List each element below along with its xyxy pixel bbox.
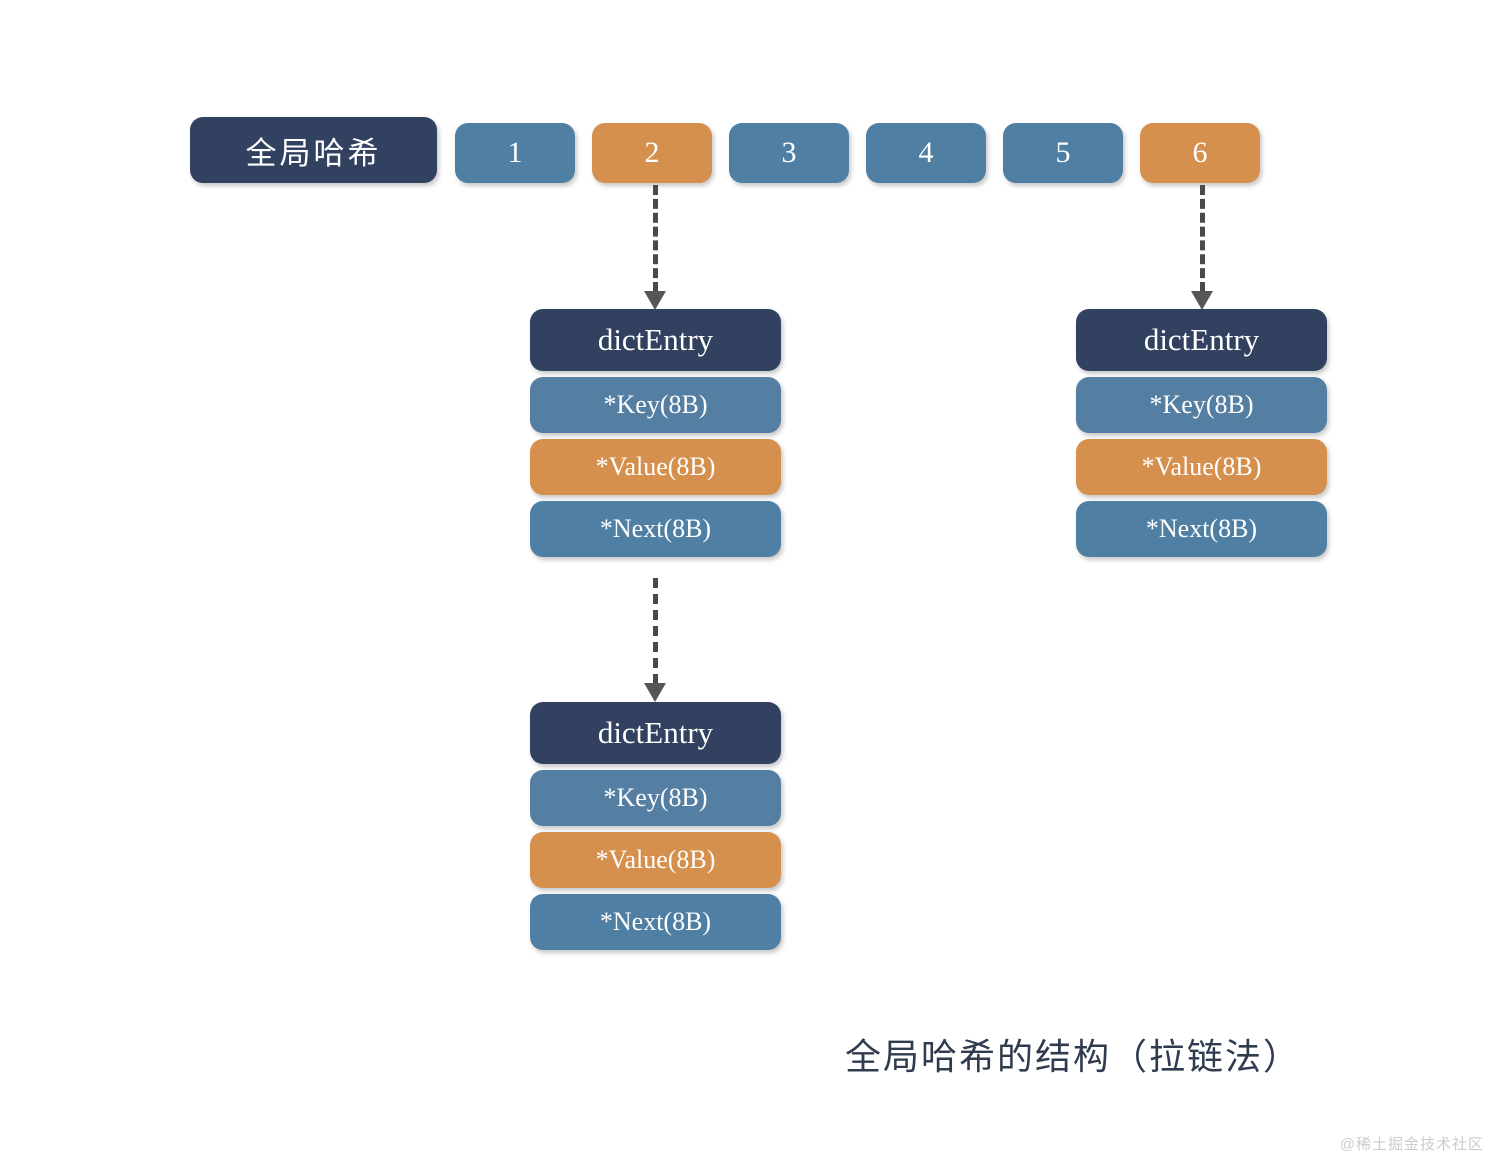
dict-entry-next-row[interactable]: *Next(8B)	[530, 894, 781, 950]
arrow-head-icon	[1191, 291, 1213, 310]
arrow-bucket2-to-entry1	[644, 185, 666, 310]
diagram-canvas: 全局哈希 1 2 3 4 5 6 dictEntry *Key(8B) *Val…	[0, 0, 1512, 1176]
bucket-cell-1[interactable]: 1	[455, 123, 575, 183]
dict-entry-block-2: dictEntry *Key(8B) *Value(8B) *Next(8B)	[1076, 309, 1327, 563]
dict-entry-value-row[interactable]: *Value(8B)	[530, 439, 781, 495]
dict-entry-next-row[interactable]: *Next(8B)	[1076, 501, 1327, 557]
bucket-cell-3[interactable]: 3	[729, 123, 849, 183]
dict-entry-value-row[interactable]: *Value(8B)	[1076, 439, 1327, 495]
dict-entry-key-row[interactable]: *Key(8B)	[1076, 377, 1327, 433]
dict-entry-header: dictEntry	[530, 702, 781, 764]
arrow-head-icon	[644, 291, 666, 310]
dict-entry-header: dictEntry	[530, 309, 781, 371]
arrow-bucket6-to-entry2	[1191, 185, 1213, 310]
arrow-shaft	[653, 185, 663, 292]
dict-entry-block-3: dictEntry *Key(8B) *Value(8B) *Next(8B)	[530, 702, 781, 956]
global-hash-label-box: 全局哈希	[190, 117, 437, 183]
dict-entry-value-row[interactable]: *Value(8B)	[530, 832, 781, 888]
bucket-cell-4[interactable]: 4	[866, 123, 986, 183]
bucket-cell-6[interactable]: 6	[1140, 123, 1260, 183]
arrow-shaft	[1200, 185, 1210, 292]
arrow-entry1-next-to-entry3	[644, 578, 666, 702]
watermark: @稀土掘金技术社区	[1340, 1133, 1484, 1154]
arrow-shaft	[653, 578, 663, 684]
dict-entry-block-1: dictEntry *Key(8B) *Value(8B) *Next(8B)	[530, 309, 781, 563]
dict-entry-next-row[interactable]: *Next(8B)	[530, 501, 781, 557]
dict-entry-header: dictEntry	[1076, 309, 1327, 371]
dict-entry-key-row[interactable]: *Key(8B)	[530, 770, 781, 826]
diagram-caption: 全局哈希的结构（拉链法）	[845, 1028, 1301, 1080]
bucket-cell-2[interactable]: 2	[592, 123, 712, 183]
arrow-head-icon	[644, 683, 666, 702]
bucket-cell-5[interactable]: 5	[1003, 123, 1123, 183]
dict-entry-key-row[interactable]: *Key(8B)	[530, 377, 781, 433]
